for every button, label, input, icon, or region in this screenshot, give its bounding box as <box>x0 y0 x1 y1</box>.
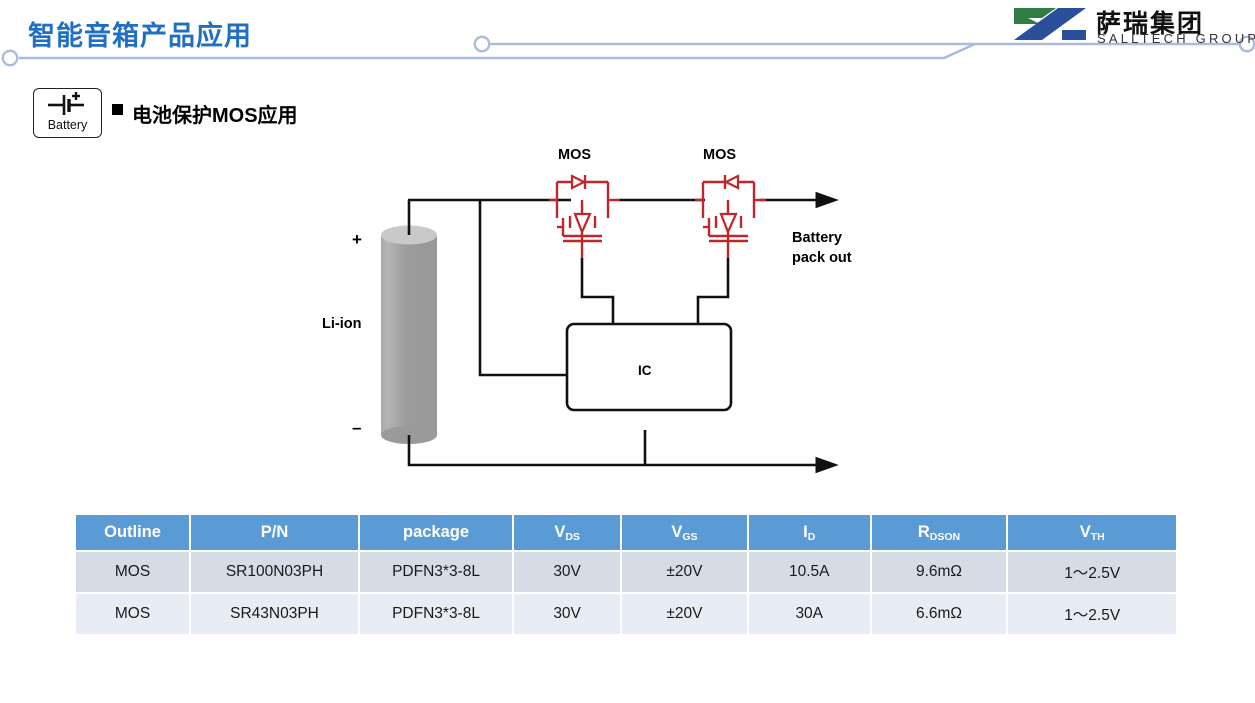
col-header-vgs: VGS <box>622 515 747 550</box>
mosfet-right-channel-arrow <box>721 214 736 232</box>
cell-pn: SR100N03PH <box>191 552 358 592</box>
cell-vds: 30V <box>514 552 620 592</box>
cell-vth: 1～2.5V <box>1008 594 1176 634</box>
cell-outline: MOS <box>76 552 189 592</box>
section-bullet-icon <box>112 104 123 115</box>
mosfet-left-body-diode <box>572 176 584 188</box>
col-header-outline: Outline <box>76 515 189 550</box>
salltech-logo: 萨瑞集团 SALLTECH GROUP <box>1012 5 1250 45</box>
table-row: MOS SR43N03PH PDFN3*3-8L 30V ±20V 30A 6.… <box>76 594 1176 634</box>
cell-vgs: ±20V <box>622 594 747 634</box>
deco-circle-left <box>3 51 17 65</box>
table-header-row: Outline P/N package VDS VGS ID RDSON VTH <box>76 515 1176 550</box>
cell-rdson: 6.6mΩ <box>872 594 1007 634</box>
mos-spec-table: Outline P/N package VDS VGS ID RDSON VTH… <box>74 513 1178 636</box>
col-header-rdson: RDSON <box>872 515 1007 550</box>
col-header-vth: VTH <box>1008 515 1176 550</box>
section-heading: 电池保护MOS应用 <box>132 99 298 128</box>
label-mos-right: MOS <box>703 147 736 163</box>
cell-id: 30A <box>749 594 870 634</box>
cell-vds: 30V <box>514 594 620 634</box>
battery-out-line1: Battery <box>792 230 842 246</box>
label-mos-left: MOS <box>558 147 591 163</box>
battery-out-line2: pack out <box>792 250 852 266</box>
table-row: MOS SR100N03PH PDFN3*3-8L 30V ±20V 10.5A… <box>76 552 1176 592</box>
cell-vth: 1～2.5V <box>1008 552 1176 592</box>
col-header-id: ID <box>749 515 870 550</box>
battery-icon-box: Battery <box>33 88 102 138</box>
label-ic: IC <box>638 363 652 378</box>
col-header-pn: P/N <box>191 515 358 550</box>
col-header-package: package <box>360 515 512 550</box>
salltech-logo-mark <box>1012 6 1092 42</box>
label-positive-terminal: + <box>352 230 362 250</box>
cell-outline: MOS <box>76 594 189 634</box>
label-negative-terminal: – <box>352 418 361 438</box>
mosfet-left-channel-arrow <box>575 214 590 232</box>
cell-package: PDFN3*3-8L <box>360 594 512 634</box>
battery-cell-icon <box>34 91 101 119</box>
cell-pn: SR43N03PH <box>191 594 358 634</box>
li-ion-cell-graphic <box>381 226 437 445</box>
deco-circle-mid <box>475 37 489 51</box>
battery-protection-circuit-diagram <box>320 140 880 485</box>
label-battery-pack-out: Battery pack out <box>792 228 852 268</box>
logo-english-name: SALLTECH GROUP <box>1097 31 1255 46</box>
col-header-vds: VDS <box>514 515 620 550</box>
cell-rdson: 9.6mΩ <box>872 552 1007 592</box>
cell-vgs: ±20V <box>622 552 747 592</box>
mosfet-right-body-diode <box>726 176 738 188</box>
label-li-ion-cell: Li-ion <box>322 316 361 332</box>
cell-package: PDFN3*3-8L <box>360 552 512 592</box>
cell-id: 10.5A <box>749 552 870 592</box>
battery-icon-label: Battery <box>34 118 101 132</box>
